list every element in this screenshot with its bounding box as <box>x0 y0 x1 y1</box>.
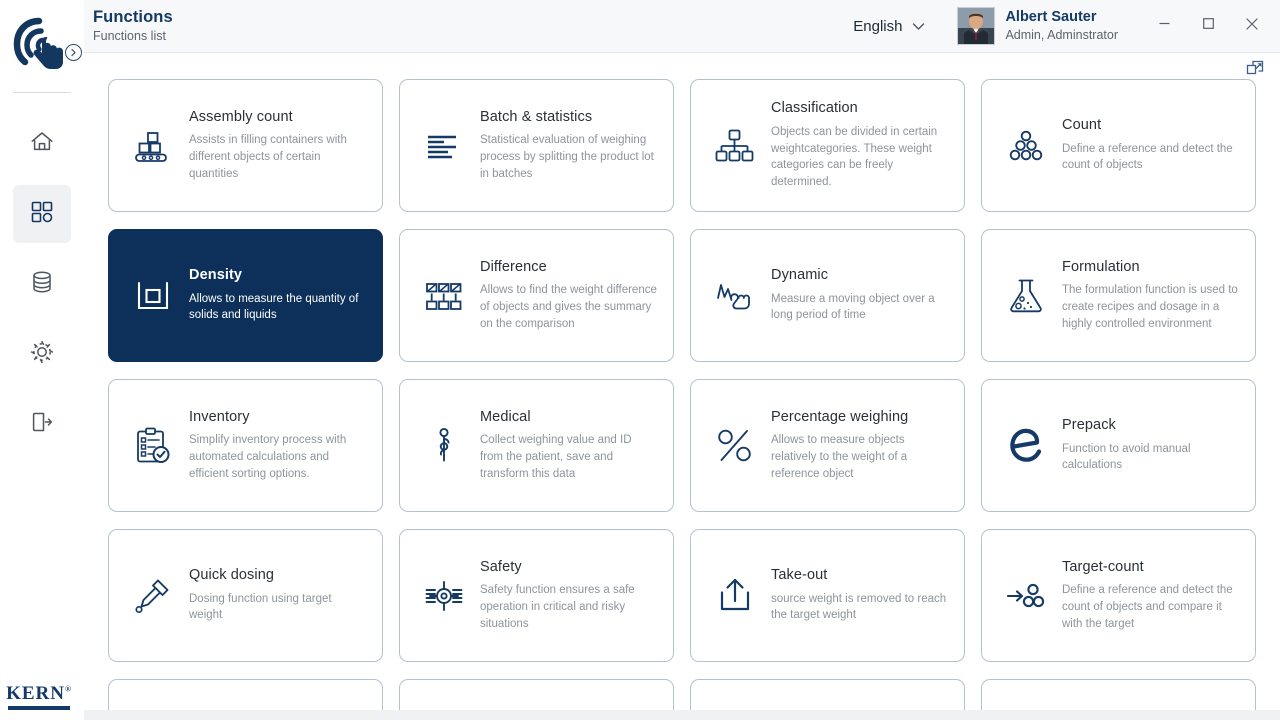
database-icon <box>29 269 55 300</box>
take-out-icon <box>709 576 761 616</box>
page-subtitle: Functions list <box>93 29 173 43</box>
function-card-medical[interactable]: Medical Collect weighing value and ID fr… <box>399 379 674 512</box>
target-count-icon <box>1000 576 1052 616</box>
card-text: Take-out source weight is removed to rea… <box>761 567 950 624</box>
card-title: Prepack <box>1062 417 1239 434</box>
function-card-target-count[interactable]: Target-count Define a reference and dete… <box>981 529 1256 662</box>
function-card-safety[interactable]: Safety Safety function ensures a safe op… <box>399 529 674 662</box>
inventory-clipboard-icon <box>127 426 179 466</box>
function-card-assembly-count[interactable]: Assembly count Assists in filling contai… <box>108 79 383 212</box>
expand-window-button[interactable] <box>1246 60 1264 78</box>
assembly-count-icon <box>127 126 179 166</box>
card-description: Define a reference and detect the count … <box>1062 582 1239 632</box>
card-text: Medical Collect weighing value and ID fr… <box>470 409 659 482</box>
card-text: Batch & statistics Statistical evaluatio… <box>470 109 659 182</box>
safety-target-icon <box>418 576 470 616</box>
title-block: Functions Functions list <box>93 8 173 43</box>
card-text: Target-count Define a reference and dete… <box>1052 559 1241 632</box>
function-card-count[interactable]: Count Define a reference and detect the … <box>981 79 1256 212</box>
card-title: Medical <box>480 409 657 426</box>
page-title: Functions <box>93 8 173 27</box>
sidebar-item-database[interactable] <box>13 255 71 313</box>
card-title: Take-out <box>771 567 948 584</box>
card-description: Collect weighing value and ID from the p… <box>480 432 657 482</box>
gear-icon <box>29 339 55 370</box>
function-card-classification[interactable]: Classification Objects can be divided in… <box>690 79 965 212</box>
functions-content: Assembly count Assists in filling contai… <box>84 52 1280 720</box>
card-text: Inventory Simplify inventory process wit… <box>179 409 368 482</box>
chevron-right-icon <box>69 48 78 57</box>
sidebar-nav <box>13 115 71 453</box>
card-text: Density Allows to measure the quantity o… <box>179 267 368 324</box>
card-description: Allows to measure the quantity of solids… <box>189 291 366 324</box>
card-description: Function to avoid manual calculations <box>1062 441 1239 474</box>
window-maximize-button[interactable] <box>1186 0 1230 52</box>
card-description: Statistical evaluation of weighing proce… <box>480 132 657 182</box>
quick-dosing-pipette-icon <box>127 576 179 616</box>
function-card-percentage-weighing[interactable]: Percentage weighing Allows to measure ob… <box>690 379 965 512</box>
card-description: Measure a moving object over a long peri… <box>771 291 948 324</box>
header-right: English <box>847 0 1280 52</box>
function-card-prepack[interactable]: Prepack Function to avoid manual calcula… <box>981 379 1256 512</box>
card-description: source weight is removed to reach the ta… <box>771 591 948 624</box>
card-description: Allows to find the weight difference of … <box>480 282 657 332</box>
function-card-inventory[interactable]: Inventory Simplify inventory process wit… <box>108 379 383 512</box>
card-title: Density <box>189 267 366 284</box>
sidebar-collapse-toggle[interactable] <box>65 44 82 61</box>
card-text: Assembly count Assists in filling contai… <box>179 109 368 182</box>
card-title: Classification <box>771 100 948 117</box>
function-card-quick-dosing[interactable]: Quick dosing Dosing function using targe… <box>108 529 383 662</box>
classification-icon <box>709 126 761 166</box>
language-label: English <box>853 18 902 35</box>
card-title: Target-count <box>1062 559 1239 576</box>
minimize-icon <box>1158 17 1171 35</box>
sidebar-divider <box>13 92 71 93</box>
home-icon <box>29 129 55 160</box>
card-title: Formulation <box>1062 259 1239 276</box>
card-description: Objects can be divided in certain weight… <box>771 124 948 191</box>
chevron-down-icon <box>912 18 925 35</box>
kern-logo: KERN® <box>8 684 70 710</box>
apps-grid-icon <box>29 199 55 230</box>
window-controls <box>1142 0 1274 52</box>
user-account[interactable]: Albert Sauter Admin, Adminstrator <box>957 7 1118 45</box>
card-text: Difference Allows to find the weight dif… <box>470 259 659 332</box>
function-card-take-out[interactable]: Take-out source weight is removed to rea… <box>690 529 965 662</box>
expand-window-icon <box>1246 60 1264 78</box>
maximize-icon <box>1202 17 1215 35</box>
sidebar-item-functions[interactable] <box>13 185 71 243</box>
card-text: Quick dosing Dosing function using targe… <box>179 567 368 624</box>
app-window: KERN® Functions Functions list English <box>0 0 1280 720</box>
user-name: Albert Sauter <box>1005 9 1118 26</box>
avatar <box>957 7 995 45</box>
card-title: Batch & statistics <box>480 109 657 126</box>
card-text: Classification Objects can be divided in… <box>761 100 950 190</box>
function-card-dynamic[interactable]: Dynamic Measure a moving object over a l… <box>690 229 965 362</box>
formulation-flask-icon <box>1000 276 1052 316</box>
window-close-button[interactable] <box>1230 0 1274 52</box>
brand-logo-icon <box>11 14 73 78</box>
difference-icon <box>418 276 470 316</box>
card-title: Percentage weighing <box>771 409 948 426</box>
density-icon <box>127 276 179 316</box>
function-card-formulation[interactable]: Formulation The formulation function is … <box>981 229 1256 362</box>
logout-icon <box>29 409 55 440</box>
sidebar-item-settings[interactable] <box>13 325 71 383</box>
function-card-density[interactable]: Density Allows to measure the quantity o… <box>108 229 383 362</box>
card-description: Assists in filling containers with diffe… <box>189 132 366 182</box>
prepack-e-icon <box>1000 426 1052 466</box>
close-icon <box>1245 17 1259 36</box>
function-card-batch-statistics[interactable]: Batch & statistics Statistical evaluatio… <box>399 79 674 212</box>
sidebar: KERN® <box>0 0 84 720</box>
count-icon <box>1000 126 1052 166</box>
card-description: Allows to measure objects relatively to … <box>771 432 948 482</box>
window-minimize-button[interactable] <box>1142 0 1186 52</box>
user-role: Admin, Adminstrator <box>1005 28 1118 43</box>
medical-icon <box>418 426 470 466</box>
dynamic-icon <box>709 276 761 316</box>
card-description: Safety function ensures a safe operation… <box>480 582 657 632</box>
language-selector[interactable]: English <box>847 18 931 35</box>
card-description: The formulation function is used to crea… <box>1062 282 1239 332</box>
sidebar-item-home[interactable] <box>13 115 71 173</box>
card-description: Dosing function using target weight <box>189 591 366 624</box>
content-bottom-edge <box>84 710 1280 720</box>
top-header-bar: Functions Functions list English <box>84 0 1280 52</box>
sidebar-item-logout[interactable] <box>13 395 71 453</box>
functions-grid: Assembly count Assists in filling contai… <box>108 79 1256 720</box>
card-title: Dynamic <box>771 267 948 284</box>
card-title: Count <box>1062 117 1239 134</box>
percent-icon <box>709 426 761 466</box>
card-title: Safety <box>480 559 657 576</box>
card-description: Simplify inventory process with automate… <box>189 432 366 482</box>
card-description: Define a reference and detect the count … <box>1062 141 1239 174</box>
function-card-difference[interactable]: Difference Allows to find the weight dif… <box>399 229 674 362</box>
card-title: Difference <box>480 259 657 276</box>
card-text: Safety Safety function ensures a safe op… <box>470 559 659 632</box>
batch-statistics-icon <box>418 126 470 166</box>
card-text: Dynamic Measure a moving object over a l… <box>761 267 950 324</box>
card-text: Prepack Function to avoid manual calcula… <box>1052 417 1241 474</box>
card-text: Percentage weighing Allows to measure ob… <box>761 409 950 482</box>
main-area: Functions Functions list English <box>84 0 1280 720</box>
card-text: Formulation The formulation function is … <box>1052 259 1241 332</box>
card-title: Inventory <box>189 409 366 426</box>
card-title: Assembly count <box>189 109 366 126</box>
card-title: Quick dosing <box>189 567 366 584</box>
kern-logo-bar <box>8 706 70 710</box>
user-meta: Albert Sauter Admin, Adminstrator <box>1005 9 1118 42</box>
kern-logo-text: KERN <box>6 683 65 704</box>
kern-trademark: ® <box>65 685 72 694</box>
card-text: Count Define a reference and detect the … <box>1052 117 1241 174</box>
